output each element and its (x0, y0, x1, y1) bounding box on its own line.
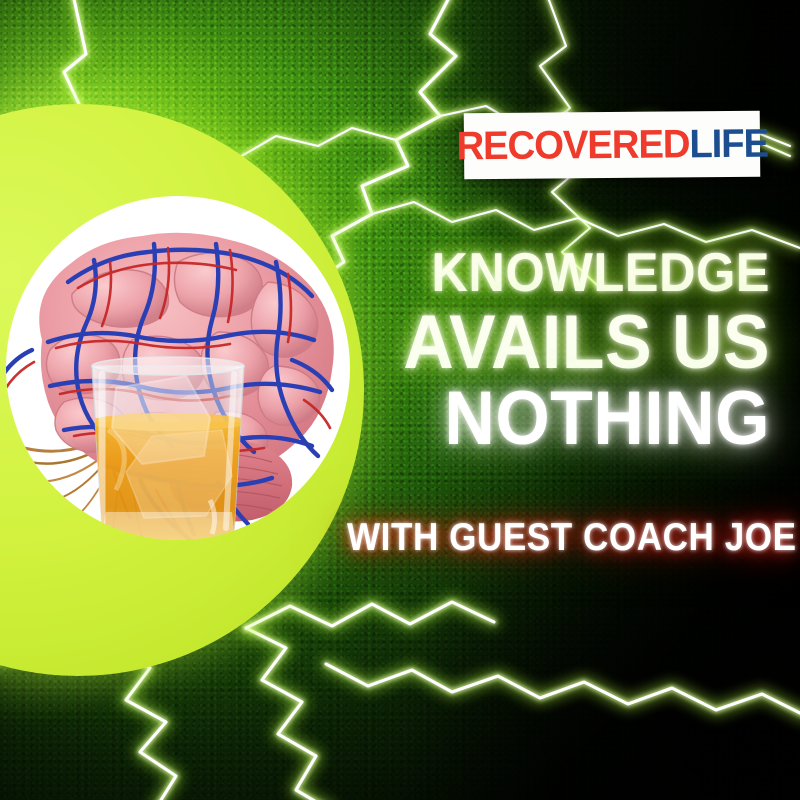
logo-text: RECOVEREDLIFE (456, 124, 768, 167)
lightning-bolt-bottom-center (246, 628, 330, 800)
recovered-life-logo[interactable]: RECOVEREDLIFE (464, 111, 761, 180)
whiskey-tumbler (89, 357, 249, 540)
podcast-cover-artwork: RECOVEREDLIFE KNOWLEDGE AVAILS US NOTHIN… (0, 0, 800, 800)
lightning-bolt-lower-right-arc (326, 664, 800, 716)
title-line-3: NOTHING (365, 382, 770, 456)
guest-subtitle: WITH GUEST COACH JOE (347, 516, 770, 560)
title-line-1: KNOWLEDGE (365, 246, 770, 300)
brain-with-whiskey-glass-illustration (6, 196, 350, 540)
logo-word-recovered: RECOVERED (456, 122, 689, 168)
episode-title: KNOWLEDGE AVAILS US NOTHING (330, 246, 770, 457)
logo-word-life: LIFE (689, 122, 768, 167)
white-disc (6, 196, 350, 540)
lightning-bolt-bottom-right (246, 602, 494, 628)
title-line-2: AVAILS US (365, 306, 770, 380)
